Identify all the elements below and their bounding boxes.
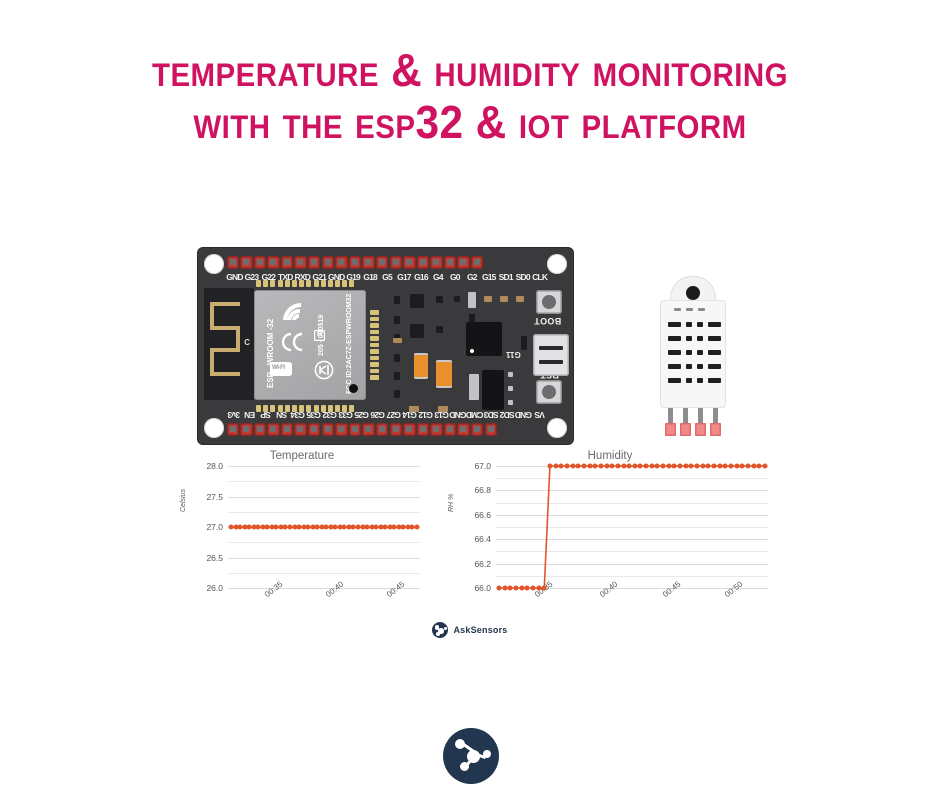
smd-component	[394, 316, 400, 324]
header-pin	[417, 256, 429, 269]
pin-label: CMD	[467, 408, 484, 420]
data-point	[751, 464, 756, 469]
page-title-line-1: Temperature & Humidity Monitoring	[38, 44, 903, 96]
header-pin	[267, 256, 279, 269]
espressif-logo-icon	[280, 300, 306, 326]
y-axis-tick: 26.0	[206, 583, 223, 593]
header-pin	[240, 423, 252, 436]
header-pin	[349, 423, 361, 436]
asksensors-brand-label: AskSensors	[453, 625, 507, 635]
y-axis-tick: 27.5	[206, 492, 223, 502]
pin-label: G2	[463, 272, 480, 284]
header-pin	[254, 423, 266, 436]
data-point	[638, 464, 643, 469]
header-pin	[227, 423, 239, 436]
sensor-body	[660, 300, 726, 408]
smd-component	[436, 326, 443, 333]
pin-label: VS	[532, 408, 548, 420]
mount-hole-icon	[204, 418, 224, 438]
header-pin	[240, 256, 252, 269]
smd-resistor	[409, 406, 419, 412]
header-pin	[417, 423, 429, 436]
data-point	[621, 464, 626, 469]
data-point	[508, 586, 513, 591]
y-axis-tick: 66.2	[474, 559, 491, 569]
pin-label: G12	[418, 408, 434, 420]
smd-component	[469, 374, 479, 400]
temperature-chart: Temperature Celsius 26.026.527.027.528.0…	[182, 450, 422, 610]
data-point	[649, 464, 654, 469]
data-point	[683, 464, 688, 469]
data-point	[661, 464, 666, 469]
y-axis-tick: 67.0	[474, 461, 491, 471]
pin-label: G4	[429, 272, 446, 284]
header-pin	[267, 423, 279, 436]
esp-wroom-32-module: ESP - WROOM -32 205 - 000519 FCC ID:2AC7…	[254, 290, 366, 400]
wifi-badge-icon: WI-FI	[270, 362, 292, 376]
data-point	[513, 586, 518, 591]
header-pin	[294, 423, 306, 436]
smd-component	[394, 354, 400, 362]
data-point	[576, 464, 581, 469]
data-point	[700, 464, 705, 469]
data-point	[519, 586, 524, 591]
header-pin	[308, 256, 320, 269]
data-point	[415, 525, 420, 530]
header-pin	[444, 256, 456, 269]
header-pin	[390, 423, 402, 436]
header-pins-bottom	[226, 423, 498, 436]
data-point	[729, 464, 734, 469]
smd-resistor	[500, 296, 508, 302]
data-point	[717, 464, 722, 469]
antenna-mark: C	[244, 338, 250, 347]
header-pin	[376, 423, 388, 436]
module-fcc-label: FCC ID:2AC7Z-ESPWROOM32	[346, 294, 353, 394]
header-pin	[485, 423, 497, 436]
data-point	[644, 464, 649, 469]
pin-label: SD0	[514, 272, 531, 284]
data-point	[757, 464, 762, 469]
data-point	[525, 586, 530, 591]
pin-label: GND	[450, 408, 467, 420]
smd-resistor	[516, 296, 524, 302]
kc-mark-icon	[314, 360, 334, 380]
boot-button-label: BOOT	[534, 316, 561, 326]
pin-label: G16	[412, 272, 429, 284]
hardware-illustration: GNDG23G22TXDRXDG21GNDG19G18G5G17G16G4G0G…	[0, 248, 940, 448]
data-point	[678, 464, 683, 469]
module-pads-bottom	[256, 405, 354, 412]
header-pin	[457, 256, 469, 269]
smd-component	[436, 296, 443, 303]
smd-component	[454, 296, 460, 302]
smd-resistor	[484, 296, 492, 302]
voltage-regulator	[482, 370, 504, 410]
data-point	[547, 464, 552, 469]
header-pin	[254, 256, 266, 269]
pin-label: G0	[446, 272, 463, 284]
data-point	[587, 464, 592, 469]
y-axis-tick: 28.0	[206, 461, 223, 471]
charts-panel: Temperature Celsius 26.026.527.027.528.0…	[0, 450, 940, 625]
header-pin	[322, 423, 334, 436]
pin-label: G25	[354, 408, 370, 420]
header-pin	[376, 256, 388, 269]
data-point	[706, 464, 711, 469]
data-point	[553, 464, 558, 469]
mount-hole-icon	[547, 418, 567, 438]
y-axis-tick: 66.6	[474, 510, 491, 520]
sensor-pin-tip	[665, 423, 676, 436]
smd-component	[394, 372, 400, 380]
smd-component	[394, 390, 400, 398]
usb-uart-ic	[466, 322, 502, 356]
header-pin	[362, 423, 374, 436]
page-title-line-2: With The ESP32 & IoT Platform	[38, 96, 903, 148]
pin-label: G26	[370, 408, 386, 420]
pin-label: GND	[226, 272, 243, 284]
data-point	[763, 464, 768, 469]
pin-label: G17	[396, 272, 413, 284]
header-pin	[403, 256, 415, 269]
pin-label: G15	[480, 272, 497, 284]
chart-title: Humidity	[450, 450, 770, 462]
transistor	[410, 294, 424, 308]
data-point	[530, 586, 535, 591]
pin-label: G18	[362, 272, 379, 284]
page-title: Temperature & Humidity Monitoring With T…	[0, 44, 940, 148]
capacitor	[436, 360, 452, 388]
data-point	[593, 464, 598, 469]
y-axis-tick: 66.0	[474, 583, 491, 593]
pin-label: G5	[379, 272, 396, 284]
y-axis-tick: 66.8	[474, 485, 491, 495]
y-axis-tick: 26.5	[206, 553, 223, 563]
header-pin	[322, 256, 334, 269]
micro-usb-port	[533, 334, 569, 376]
header-pins-top	[226, 256, 484, 269]
data-point	[734, 464, 739, 469]
pin-label: 3v3	[226, 408, 242, 420]
smd-resistor	[438, 406, 448, 412]
data-point	[689, 464, 694, 469]
data-point	[497, 586, 502, 591]
header-pin	[390, 256, 402, 269]
data-point	[712, 464, 717, 469]
asksensors-mark-icon	[432, 622, 448, 638]
pin-label: CLK	[531, 272, 548, 284]
header-pin	[471, 423, 483, 436]
sensor-pin-tip	[710, 423, 721, 436]
sensor-pin-tip	[680, 423, 691, 436]
header-pin	[471, 256, 483, 269]
esp32-board: GNDG23G22TXDRXDG21GNDG19G18G5G17G16G4G0G…	[198, 248, 573, 444]
data-point	[559, 464, 564, 469]
capacitor	[414, 353, 428, 379]
header-pin	[430, 256, 442, 269]
data-point	[581, 464, 586, 469]
header-pin	[430, 423, 442, 436]
header-pin	[362, 256, 374, 269]
header-pin	[281, 423, 293, 436]
data-point	[502, 586, 507, 591]
module-pads-side	[370, 310, 379, 380]
smd-component	[508, 400, 513, 405]
reset-button[interactable]	[536, 380, 562, 404]
y-axis-tick: 27.0	[206, 522, 223, 532]
sensor-pin-tip	[695, 423, 706, 436]
header-pin	[335, 256, 347, 269]
mount-hole-icon	[547, 254, 567, 274]
led-label: G11	[506, 350, 521, 359]
data-point	[615, 464, 620, 469]
asksensors-brand: AskSensors	[0, 622, 940, 643]
data-point	[666, 464, 671, 469]
data-point	[598, 464, 603, 469]
data-point	[570, 464, 575, 469]
pin-label: SD1	[497, 272, 514, 284]
smd-diode	[521, 336, 527, 350]
data-point	[740, 464, 745, 469]
data-point	[564, 464, 569, 469]
pin-label: GND	[516, 408, 533, 420]
ce-mark-icon	[282, 332, 304, 352]
plot-area: 66.066.266.466.666.867.000:3500:4000:450…	[496, 466, 768, 588]
data-point	[655, 464, 660, 469]
y-axis-label: RH %	[448, 494, 455, 512]
module-dot-icon	[349, 384, 358, 393]
smd-resistor	[393, 338, 402, 343]
plot-area: 26.026.527.027.528.000:3500:4000:45	[228, 466, 420, 588]
regulatory-r-icon: R	[314, 330, 325, 341]
module-part-label: ESP - WROOM -32	[266, 319, 275, 388]
data-point	[672, 464, 677, 469]
data-point	[695, 464, 700, 469]
y-axis-label: Celsius	[180, 489, 187, 512]
header-pin	[444, 423, 456, 436]
header-pin	[349, 256, 361, 269]
header-pin	[281, 256, 293, 269]
header-pin	[294, 256, 306, 269]
asksensors-network-logo-icon	[443, 728, 499, 784]
pcb-antenna: C	[204, 288, 254, 400]
data-point	[723, 464, 728, 469]
y-axis-tick: 66.4	[474, 534, 491, 544]
data-point	[632, 464, 637, 469]
header-pin	[403, 423, 415, 436]
data-point	[542, 586, 547, 591]
sensor-hole-icon	[686, 286, 700, 300]
transistor	[410, 324, 424, 338]
header-pin	[308, 423, 320, 436]
header-pin	[457, 423, 469, 436]
smd-component	[469, 314, 475, 322]
module-pads-top	[256, 280, 354, 287]
data-point	[746, 464, 751, 469]
smd-component	[394, 296, 400, 304]
smd-component	[508, 386, 513, 391]
smd-component	[508, 372, 513, 377]
led-indicator	[468, 292, 476, 308]
data-point	[627, 464, 632, 469]
data-point	[604, 464, 609, 469]
series-line	[496, 466, 768, 588]
data-point	[536, 586, 541, 591]
header-pin	[335, 423, 347, 436]
boot-button[interactable]	[536, 290, 562, 314]
header-pin	[227, 256, 239, 269]
pin-label: G27	[386, 408, 402, 420]
mount-hole-icon	[204, 254, 224, 274]
humidity-chart: Humidity RH % 66.066.266.466.666.867.000…	[450, 450, 770, 610]
dht22-sensor	[658, 276, 728, 436]
data-point	[610, 464, 615, 469]
